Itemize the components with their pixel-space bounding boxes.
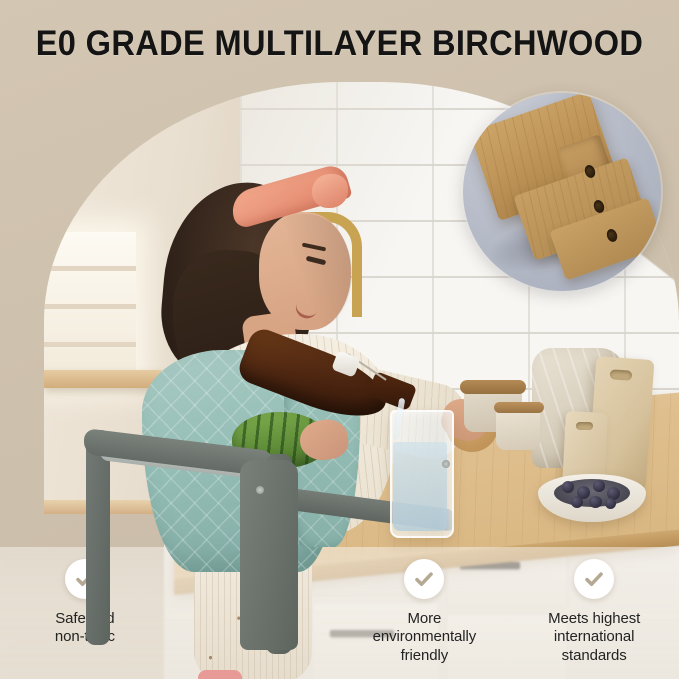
window-ledge [44, 370, 164, 388]
feature-label: More environmentally friendly [373, 610, 477, 665]
blueberry [562, 481, 574, 493]
cutting-board-large-handle-hole [610, 369, 633, 381]
glass-water [393, 442, 447, 531]
page-title: E0 GRADE MULTILAYER BIRCHWOOD [24, 24, 655, 64]
blueberry [571, 496, 583, 508]
headband-knot [312, 174, 348, 208]
infographic-page: E0 GRADE MULTILAYER BIRCHWOOD [0, 0, 679, 679]
ceramic-jar-small-lid [494, 402, 544, 413]
check-icon [404, 559, 444, 599]
birchwood-detail-inset [463, 93, 661, 291]
tower-leg-left [86, 430, 110, 645]
cutting-board-small-handle-hole [576, 422, 593, 430]
check-icon [574, 559, 614, 599]
feature-item-international-standards: Meets highest international standards [509, 547, 679, 665]
feature-item-safe-non-toxic: Safe and non-toxic [0, 547, 170, 647]
feature-item-environmentally-friendly: More environmentally friendly [340, 547, 510, 665]
ceramic-jar-large-lid [460, 380, 526, 394]
blueberry [593, 480, 605, 492]
window [44, 232, 136, 382]
feature-label: Meets highest international standards [548, 610, 640, 665]
tower-screw [442, 460, 450, 468]
child-foot [198, 670, 242, 679]
blueberry [605, 498, 616, 509]
ceramic-jar-small [496, 408, 540, 450]
blueberry [589, 496, 602, 508]
tower-side-panel [240, 460, 298, 650]
tower-screw [256, 486, 264, 494]
